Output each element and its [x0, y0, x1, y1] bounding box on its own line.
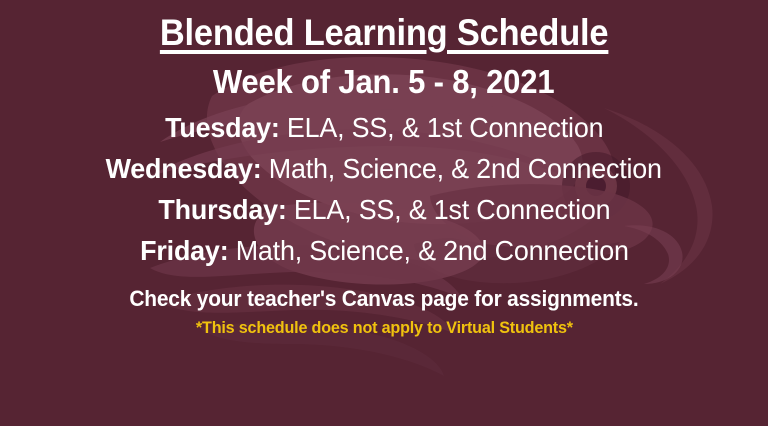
poster-text-stack: Blended Learning Schedule Week of Jan. 5…	[0, 0, 768, 426]
day-label-tuesday: Tuesday:	[165, 112, 287, 143]
canvas-note: Check your teacher's Canvas page for ass…	[129, 288, 638, 310]
week-subtitle: Week of Jan. 5 - 8, 2021	[213, 65, 554, 98]
schedule-row-wednesday: Wednesday: Math, Science, & 2nd Connecti…	[106, 155, 662, 183]
day-label-wednesday: Wednesday:	[106, 153, 269, 184]
day-subjects-wednesday: Math, Science, & 2nd Connection	[269, 153, 662, 184]
day-subjects-friday: Math, Science, & 2nd Connection	[235, 235, 628, 266]
virtual-students-disclaimer: *This schedule does not apply to Virtual…	[196, 319, 573, 336]
day-subjects-tuesday: ELA, SS, & 1st Connection	[287, 112, 603, 143]
schedule-row-friday: Friday: Math, Science, & 2nd Connection	[140, 237, 629, 265]
schedule-row-tuesday: Tuesday: ELA, SS, & 1st Connection	[165, 114, 603, 142]
schedule-row-thursday: Thursday: ELA, SS, & 1st Connection	[158, 196, 610, 224]
page-title: Blended Learning Schedule	[160, 14, 609, 51]
blended-learning-schedule-poster: Blended Learning Schedule Week of Jan. 5…	[0, 0, 768, 426]
day-label-friday: Friday:	[140, 235, 236, 266]
day-subjects-thursday: ELA, SS, & 1st Connection	[294, 194, 610, 225]
day-label-thursday: Thursday:	[158, 194, 293, 225]
